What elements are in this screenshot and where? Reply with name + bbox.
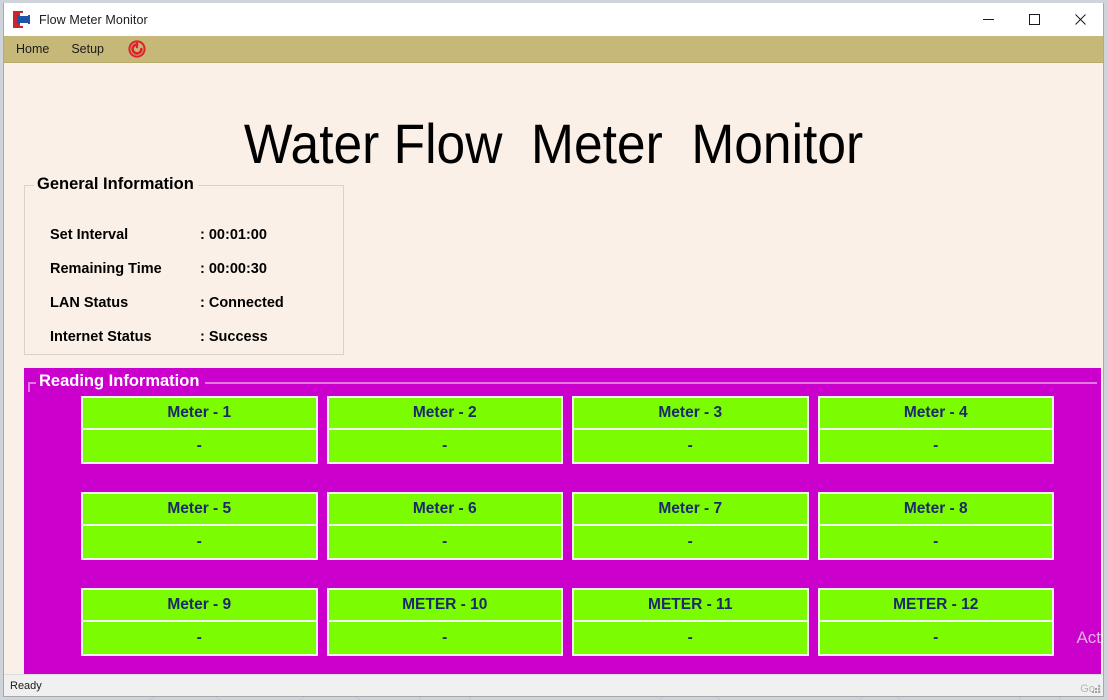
window-controls: [965, 3, 1103, 36]
meter-value: -: [574, 622, 807, 654]
meter-row: Meter - 1 - Meter - 2 - Meter - 3: [81, 396, 1054, 492]
application-window: Flow Meter Monitor Home Setup Water: [3, 3, 1104, 697]
meter-box-8[interactable]: Meter - 8 -: [818, 492, 1055, 560]
meter-box-6[interactable]: Meter - 6 -: [327, 492, 564, 560]
status-bar: Ready Go t: [4, 674, 1103, 696]
meter-box-12[interactable]: METER - 12 -: [818, 588, 1055, 656]
reading-information-group: Reading Information Meter - 1 - Meter - …: [24, 368, 1101, 674]
minimize-icon[interactable]: [965, 3, 1011, 36]
general-information-rows: Set Interval : 00:01:00 Remaining Time :…: [50, 218, 335, 354]
meter-box-1[interactable]: Meter - 1 -: [81, 396, 318, 464]
menu-item-setup[interactable]: Setup: [71, 39, 115, 60]
meter-cell[interactable]: METER - 10 -: [327, 588, 573, 656]
meter-box-10[interactable]: METER - 10 -: [327, 588, 564, 656]
refresh-icon[interactable]: [128, 40, 146, 58]
meter-box-2[interactable]: Meter - 2 -: [327, 396, 564, 464]
meter-name: Meter - 8: [820, 494, 1053, 526]
meter-name: Meter - 1: [83, 398, 316, 430]
meter-value: -: [83, 526, 316, 558]
meter-value: -: [820, 430, 1053, 462]
meter-cell[interactable]: Meter - 4 -: [818, 396, 1055, 464]
meter-name: Meter - 6: [329, 494, 562, 526]
meter-box-4[interactable]: Meter - 4 -: [818, 396, 1055, 464]
label-set-interval: Set Interval: [50, 227, 200, 243]
value-set-interval: : 00:01:00: [200, 227, 267, 243]
label-internet-status: Internet Status: [50, 329, 200, 345]
client-area: Water Flow Meter Monitor General Informa…: [4, 63, 1103, 674]
meter-value: -: [83, 622, 316, 654]
meter-name: Meter - 3: [574, 398, 807, 430]
meter-value: -: [83, 430, 316, 462]
meter-cell[interactable]: Meter - 2 -: [327, 396, 573, 464]
meter-cell[interactable]: Meter - 8 -: [818, 492, 1055, 560]
app-logo-icon: [13, 11, 30, 28]
meter-value: -: [820, 622, 1053, 654]
meter-value: -: [329, 622, 562, 654]
title-bar: Flow Meter Monitor: [4, 3, 1103, 36]
meter-grid: Meter - 1 - Meter - 2 - Meter - 3: [81, 396, 1054, 674]
resize-grip-icon[interactable]: [1089, 682, 1101, 694]
meter-row: Meter - 9 - METER - 10 - METER - 11: [81, 588, 1054, 674]
meter-name: METER - 10: [329, 590, 562, 622]
row-set-interval: Set Interval : 00:01:00: [50, 218, 335, 252]
meter-name: Meter - 4: [820, 398, 1053, 430]
meter-box-11[interactable]: METER - 11 -: [572, 588, 809, 656]
menu-item-home[interactable]: Home: [16, 39, 60, 60]
meter-value: -: [574, 526, 807, 558]
meter-cell[interactable]: Meter - 9 -: [81, 588, 327, 656]
label-remaining-time: Remaining Time: [50, 261, 200, 277]
meter-box-3[interactable]: Meter - 3 -: [572, 396, 809, 464]
meter-box-5[interactable]: Meter - 5 -: [81, 492, 318, 560]
row-internet-status: Internet Status : Success: [50, 320, 335, 354]
meter-cell[interactable]: Meter - 1 -: [81, 396, 327, 464]
status-text: Ready: [10, 680, 42, 692]
meter-name: Meter - 9: [83, 590, 316, 622]
meter-name: METER - 12: [820, 590, 1053, 622]
meter-cell[interactable]: Meter - 3 -: [572, 396, 818, 464]
row-remaining-time: Remaining Time : 00:00:30: [50, 252, 335, 286]
value-lan-status: : Connected: [200, 295, 284, 311]
row-lan-status: LAN Status : Connected: [50, 286, 335, 320]
meter-name: METER - 11: [574, 590, 807, 622]
page-title: Water Flow Meter Monitor: [48, 116, 1059, 172]
meter-cell[interactable]: METER - 11 -: [572, 588, 818, 656]
window-title: Flow Meter Monitor: [39, 13, 148, 27]
close-icon[interactable]: [1057, 3, 1103, 36]
value-remaining-time: : 00:00:30: [200, 261, 267, 277]
general-information-legend: General Information: [34, 175, 199, 194]
general-information-group: General Information Set Interval : 00:01…: [24, 185, 344, 355]
meter-box-7[interactable]: Meter - 7 -: [572, 492, 809, 560]
meter-cell[interactable]: Meter - 6 -: [327, 492, 573, 560]
meter-row: Meter - 5 - Meter - 6 - Meter - 7: [81, 492, 1054, 588]
meter-cell[interactable]: METER - 12 -: [818, 588, 1055, 656]
meter-value: -: [820, 526, 1053, 558]
meter-value: -: [574, 430, 807, 462]
reading-information-legend: Reading Information: [36, 372, 205, 391]
meter-value: -: [329, 430, 562, 462]
value-internet-status: : Success: [200, 329, 268, 345]
meter-cell[interactable]: Meter - 7 -: [572, 492, 818, 560]
menu-bar: Home Setup: [4, 36, 1103, 63]
meter-name: Meter - 2: [329, 398, 562, 430]
meter-name: Meter - 5: [83, 494, 316, 526]
label-lan-status: LAN Status: [50, 295, 200, 311]
meter-name: Meter - 7: [574, 494, 807, 526]
meter-box-9[interactable]: Meter - 9 -: [81, 588, 318, 656]
meter-value: -: [329, 526, 562, 558]
meter-cell[interactable]: Meter - 5 -: [81, 492, 327, 560]
maximize-icon[interactable]: [1011, 3, 1057, 36]
